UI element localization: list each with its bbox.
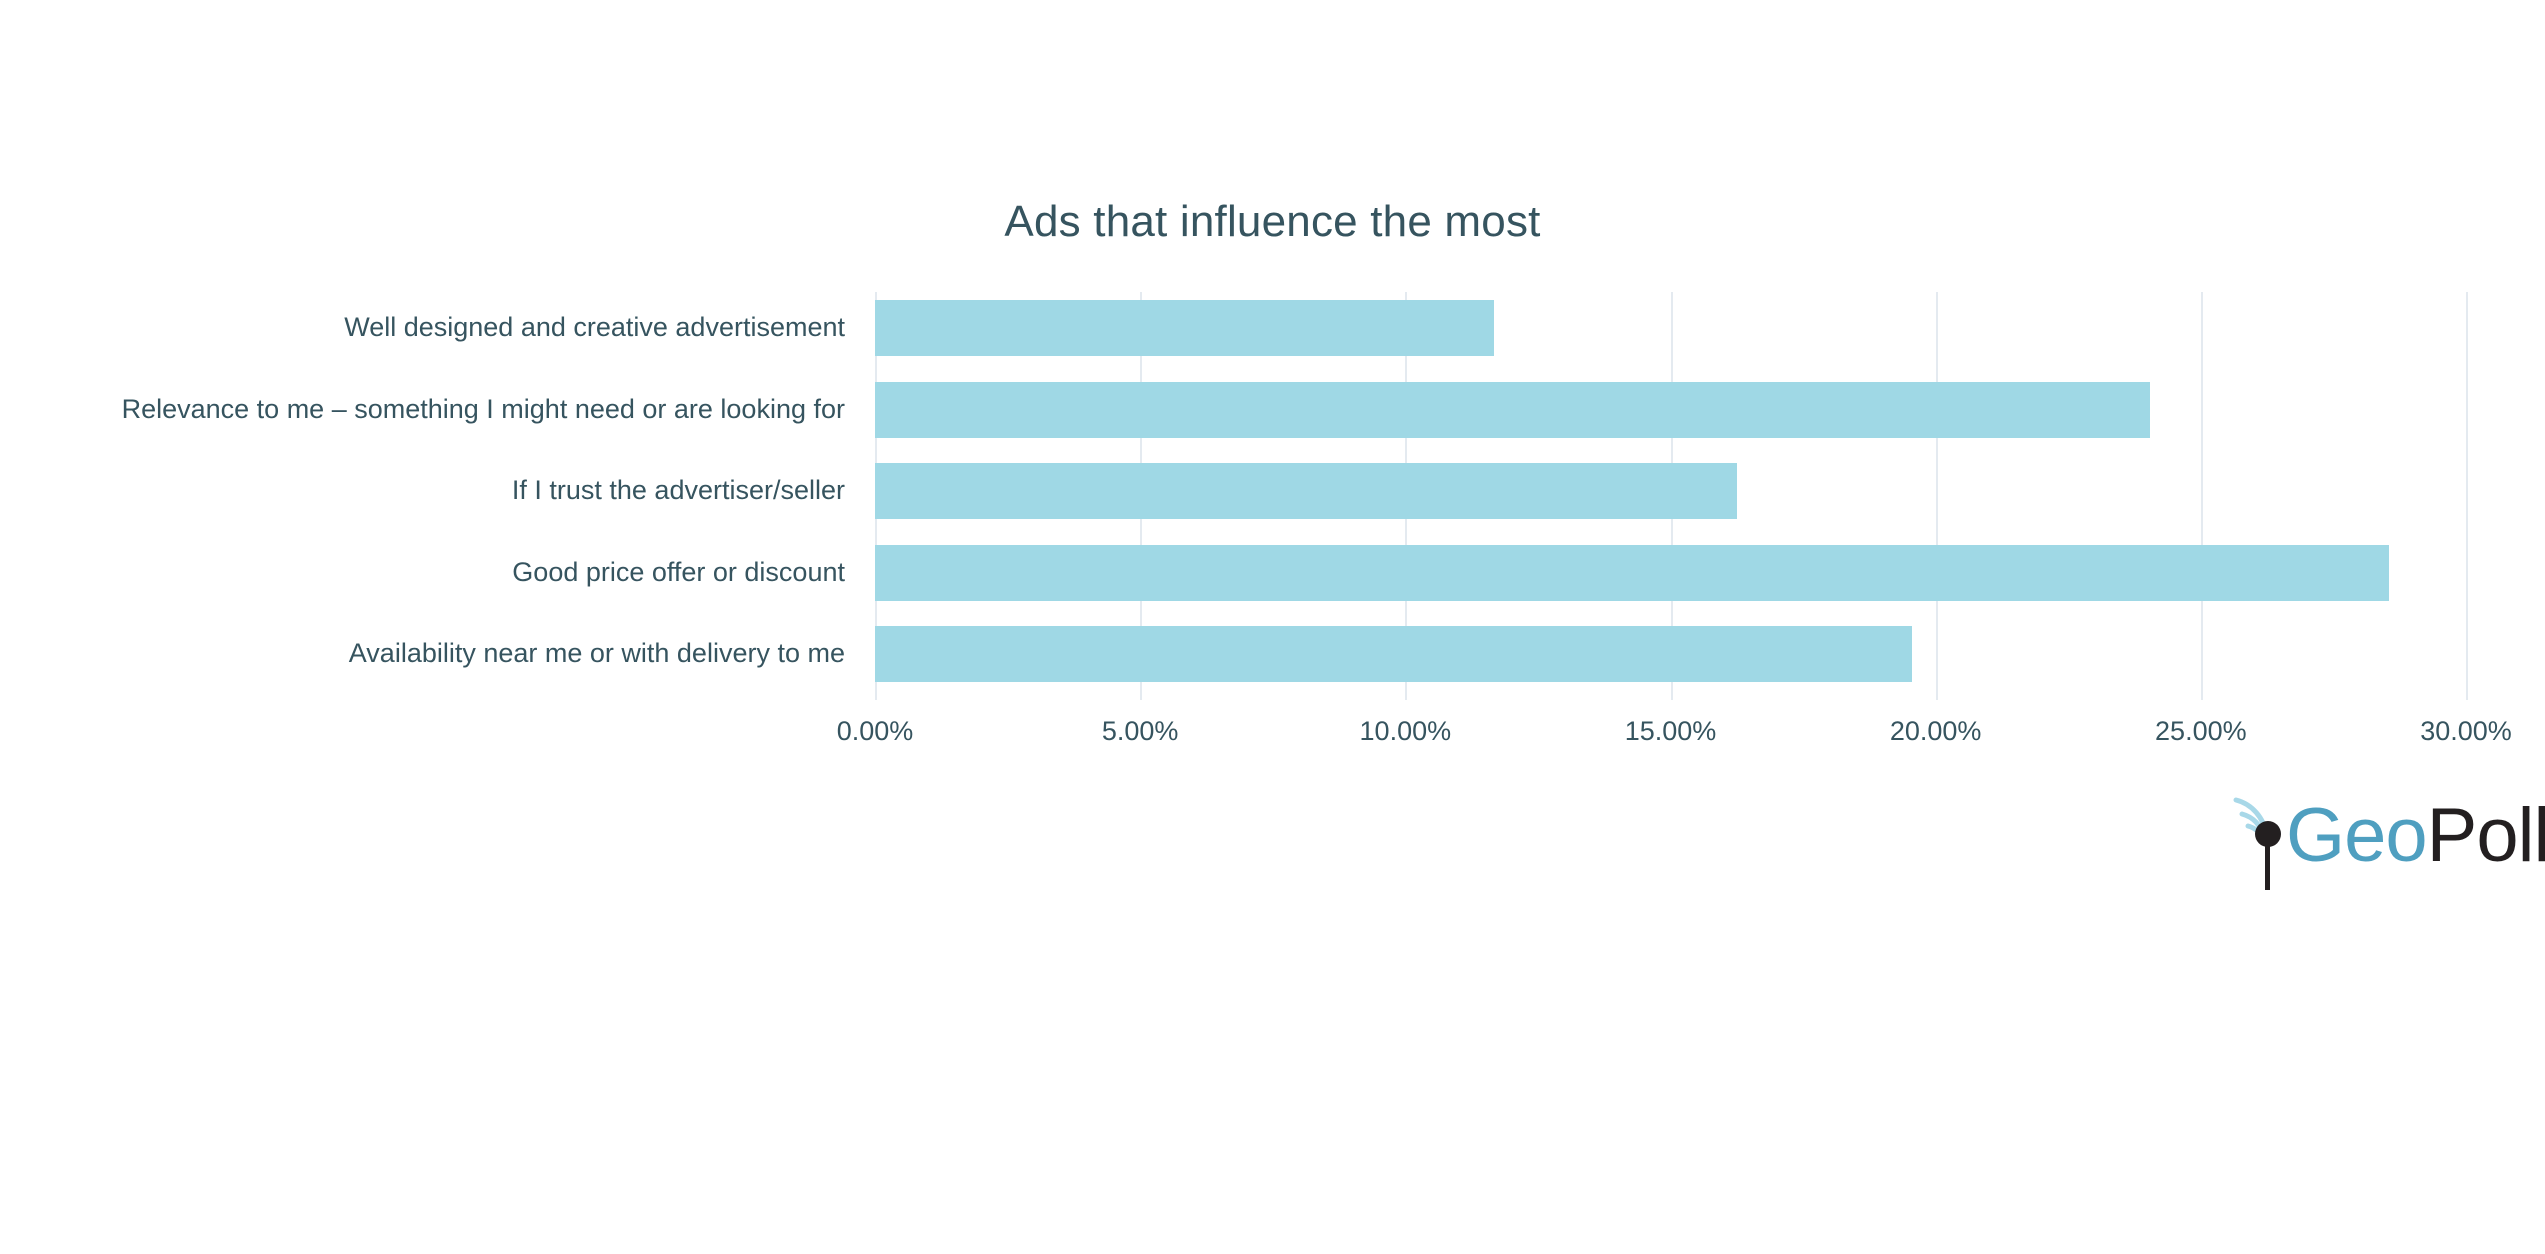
value-axis-tick-label: 20.00% xyxy=(1890,718,1982,745)
bar-fill xyxy=(875,463,1737,519)
value-axis-tick-label: 25.00% xyxy=(2155,718,2247,745)
bar-fill xyxy=(875,300,1494,356)
geopoll-logo: GeoPoll xyxy=(2218,792,2508,892)
value-axis-tick-label: 30.00% xyxy=(2420,718,2512,745)
bar-fill xyxy=(875,382,2150,438)
value-axis-tick-label: 5.00% xyxy=(1102,718,1179,745)
bar xyxy=(875,300,1494,356)
value-axis-tick-label: 10.00% xyxy=(1360,718,1452,745)
chart-title: Ads that influence the most xyxy=(0,197,2545,247)
bar-fill xyxy=(875,545,2389,601)
logo-poll-text: Poll xyxy=(2427,793,2545,878)
gridline xyxy=(2466,292,2468,700)
bar xyxy=(875,382,2150,438)
bar xyxy=(875,626,1912,682)
bar-fill xyxy=(875,626,1912,682)
value-axis-tick-label: 15.00% xyxy=(1625,718,1717,745)
logo-wordmark: GeoPoll xyxy=(2286,798,2545,874)
value-axis: 0.00%5.00%10.00%15.00%20.00%25.00%30.00% xyxy=(0,718,2545,762)
bar-chart xyxy=(0,280,2545,700)
bar-series xyxy=(875,292,2466,700)
slide-canvas: Ads that influence the most Well designe… xyxy=(0,0,2545,1254)
logo-geo-text: Geo xyxy=(2286,793,2427,878)
value-axis-tick-label: 0.00% xyxy=(837,718,914,745)
plot-area xyxy=(875,292,2466,700)
bar xyxy=(875,545,2389,601)
bar xyxy=(875,463,1737,519)
